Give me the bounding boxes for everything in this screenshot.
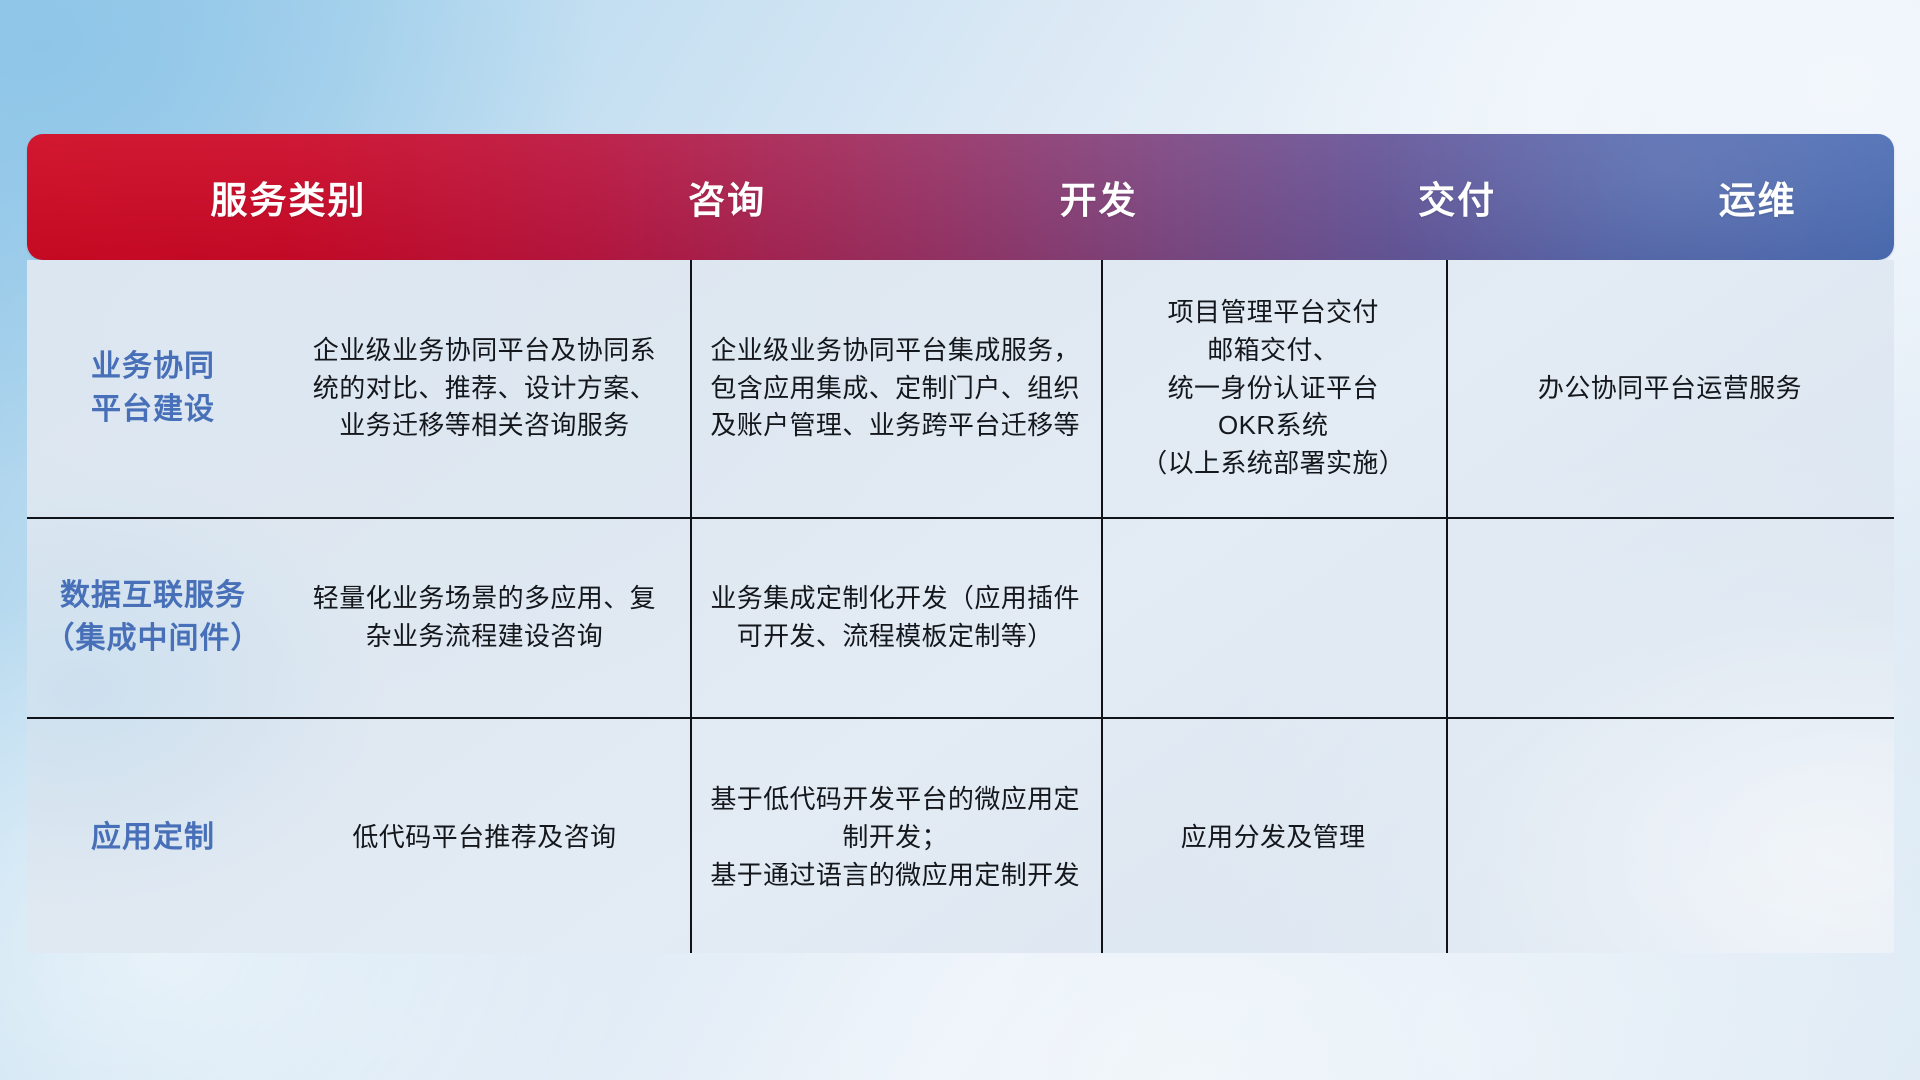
cell-development: 企业级业务协同平台集成服务， 包含应用集成、定制门户、组织 及账户管理、业务跨平…	[690, 260, 1101, 517]
cell-text: 应用分发及管理	[1181, 819, 1366, 857]
cell-text: 办公协同平台运营服务	[1538, 370, 1802, 408]
cell-delivery: 应用分发及管理	[1101, 719, 1446, 957]
cell-operations	[1446, 519, 1894, 717]
cell-consulting: 低代码平台推荐及咨询	[279, 719, 690, 957]
column-header-operations: 运维	[1621, 134, 1894, 260]
row-label-text: 应用定制	[91, 817, 215, 860]
cell-consulting: 企业级业务协同平台及协同系 统的对比、推荐、设计方案、 业务迁移等相关咨询服务	[279, 260, 690, 517]
cell-delivery	[1101, 519, 1446, 717]
cell-text: 企业级业务协同平台集成服务， 包含应用集成、定制门户、组织 及账户管理、业务跨平…	[710, 332, 1080, 445]
cell-consulting: 轻量化业务场景的多应用、复 杂业务流程建设咨询	[279, 519, 690, 717]
row-label-text: 业务协同 平台建设	[91, 346, 215, 431]
row-label-cell: 数据互联服务 （集成中间件）	[27, 519, 279, 717]
column-divider-consulting-development	[690, 260, 693, 953]
row-label-cell: 应用定制	[27, 719, 279, 957]
cell-delivery: 项目管理平台交付 邮箱交付、 统一身份认证平台 OKR系统 （以上系统部署实施）	[1101, 260, 1446, 517]
table-row: 业务协同 平台建设 企业级业务协同平台及协同系 统的对比、推荐、设计方案、 业务…	[27, 260, 1894, 517]
column-divider-development-delivery	[1101, 260, 1104, 953]
table-row: 应用定制 低代码平台推荐及咨询 基于低代码开发平台的微应用定 制开发； 基于通过…	[27, 717, 1894, 957]
column-header-category: 服务类别	[27, 134, 550, 260]
column-header-development: 开发	[904, 134, 1292, 260]
table-row: 数据互联服务 （集成中间件） 轻量化业务场景的多应用、复 杂业务流程建设咨询 业…	[27, 517, 1894, 717]
cell-text: 轻量化业务场景的多应用、复 杂业务流程建设咨询	[313, 580, 656, 655]
cell-text: 基于低代码开发平台的微应用定 制开发； 基于通过语言的微应用定制开发	[710, 781, 1080, 894]
table-body: 业务协同 平台建设 企业级业务协同平台及协同系 统的对比、推荐、设计方案、 业务…	[27, 260, 1894, 953]
cell-text: 低代码平台推荐及咨询	[352, 819, 616, 857]
cell-text: 项目管理平台交付 邮箱交付、 统一身份认证平台 OKR系统 （以上系统部署实施）	[1141, 294, 1405, 482]
column-divider-delivery-operations	[1446, 260, 1449, 953]
service-matrix-table: 服务类别 咨询 开发 交付 运维 业务协同 平台建设 企业级业务协同平台及协同系…	[27, 134, 1894, 953]
table-header-row: 服务类别 咨询 开发 交付 运维	[27, 134, 1894, 260]
cell-development: 业务集成定制化开发（应用插件 可开发、流程模板定制等）	[690, 519, 1101, 717]
cell-operations	[1446, 719, 1894, 957]
cell-operations: 办公协同平台运营服务	[1446, 260, 1894, 517]
cell-development: 基于低代码开发平台的微应用定 制开发； 基于通过语言的微应用定制开发	[690, 719, 1101, 957]
column-header-delivery: 交付	[1293, 134, 1622, 260]
cell-text: 企业级业务协同平台及协同系 统的对比、推荐、设计方案、 业务迁移等相关咨询服务	[313, 332, 656, 445]
cell-text: 业务集成定制化开发（应用插件 可开发、流程模板定制等）	[710, 580, 1080, 655]
column-header-consulting: 咨询	[550, 134, 905, 260]
row-label-text: 数据互联服务 （集成中间件）	[45, 575, 262, 660]
row-label-cell: 业务协同 平台建设	[27, 260, 279, 517]
